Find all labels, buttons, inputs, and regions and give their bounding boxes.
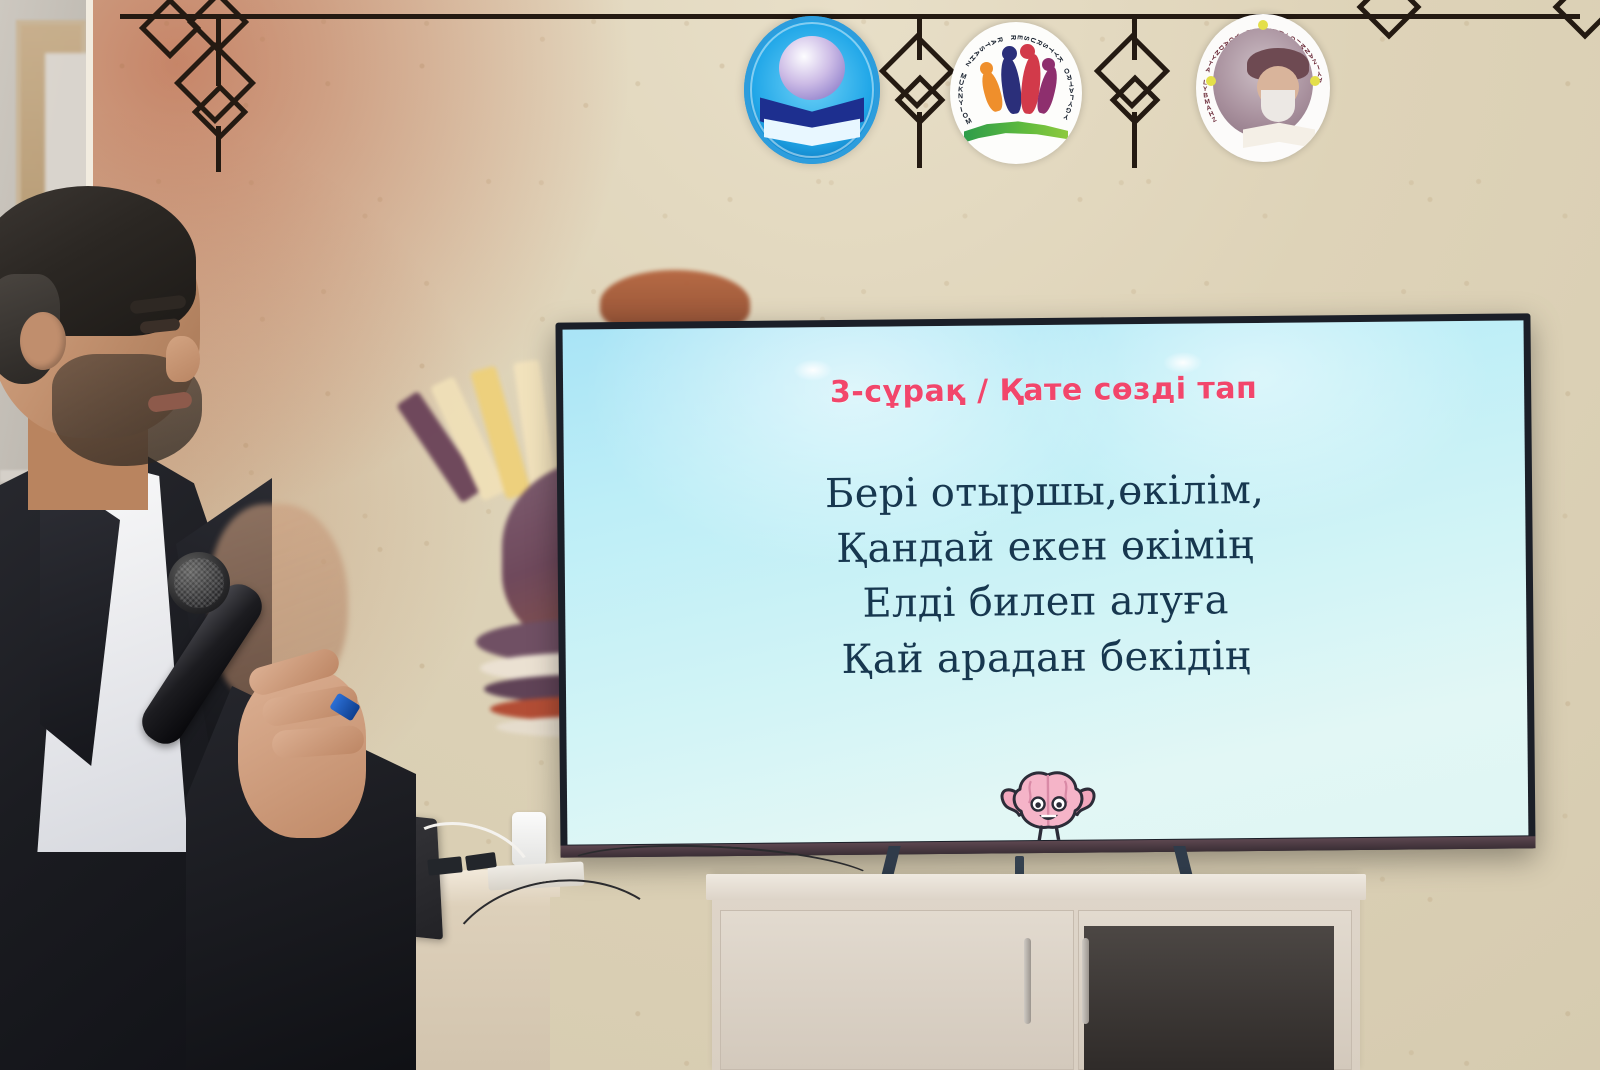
nose bbox=[166, 336, 200, 382]
decor-dot bbox=[1206, 76, 1216, 86]
cabinet-handle-right[interactable] bbox=[1082, 938, 1089, 1024]
decor-dot bbox=[1258, 20, 1268, 30]
cabinet-door-left[interactable] bbox=[720, 910, 1074, 1070]
microphone-grille bbox=[174, 558, 224, 608]
figure-head-icon bbox=[1020, 44, 1035, 59]
slide-poem: Бері отыршы,өкілім, Қандай екен өкімің Е… bbox=[564, 460, 1527, 690]
ornament-rule bbox=[120, 14, 1580, 19]
slide-title: 3-сұрақ / Қате сөзді тап bbox=[563, 368, 1524, 412]
poem-line-4: Қай арадан бекідің bbox=[565, 626, 1526, 690]
school-gymnasium-logo: ZHAMBYL ATYNDAGY MEKTEP-GIMNAZIYA bbox=[1196, 14, 1330, 162]
cabinet-handle-left[interactable] bbox=[1024, 938, 1031, 1024]
photo-scene: MOIYNKUM ZHASTAR RESURSTYK ORTALYGY ZHAM… bbox=[0, 0, 1600, 1070]
poem-line-2: Қандай екен өкімің bbox=[564, 516, 1525, 580]
cabinet-open-shelf bbox=[1084, 926, 1334, 1070]
flexing-brain-icon bbox=[992, 756, 1103, 844]
presenter bbox=[0, 186, 400, 1070]
flat-screen-tv[interactable]: 3-сұрақ / Қате сөзді тап Бері отыршы,өкі… bbox=[555, 313, 1535, 857]
figure-head-icon bbox=[1002, 46, 1017, 61]
screen-glare bbox=[1163, 351, 1203, 373]
ear bbox=[20, 312, 66, 370]
poem-line-3: Елді билеп алуға bbox=[565, 571, 1526, 635]
microphone-head bbox=[168, 552, 230, 614]
portrait-oval bbox=[1213, 28, 1313, 138]
globe-icon bbox=[779, 36, 845, 100]
poem-line-1: Бері отыршы,өкілім, bbox=[564, 460, 1525, 524]
ornament-stem bbox=[1132, 112, 1137, 168]
figure-head-icon bbox=[980, 62, 993, 75]
education-department-logo bbox=[744, 16, 880, 164]
figure-head-icon bbox=[1042, 58, 1055, 71]
decor-dot bbox=[1310, 76, 1320, 86]
youth-resource-center-logo: MOIYNKUM ZHASTAR RESURSTYK ORTALYGY bbox=[950, 22, 1082, 164]
ornament-stem bbox=[917, 112, 922, 168]
beard-icon bbox=[1261, 90, 1295, 122]
tv-screen[interactable]: 3-сұрақ / Қате сөзді тап Бері отыршы,өкі… bbox=[563, 320, 1529, 844]
ornament-stem bbox=[216, 126, 221, 172]
